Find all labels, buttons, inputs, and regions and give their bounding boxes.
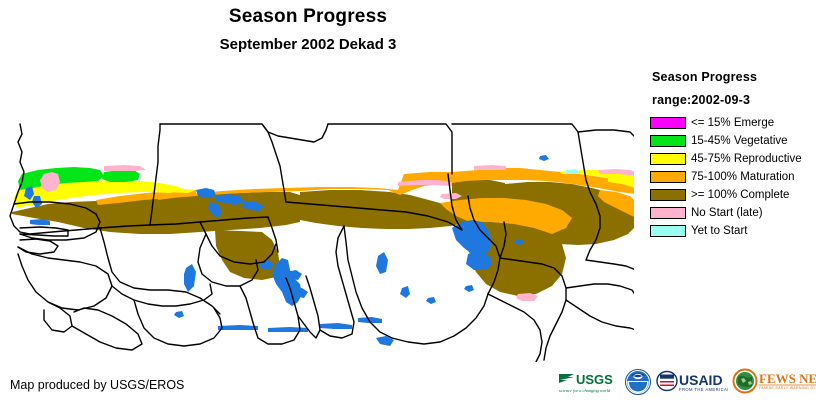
usaid-logo-tagline: FROM THE AMERICAN PEOPLE — [679, 387, 728, 392]
legend-swatch-yet-to-start — [650, 225, 686, 237]
legend-label-maturation: 75-100% Maturation — [691, 171, 795, 183]
legend-swatch-maturation — [650, 171, 686, 183]
page-title: Season Progress — [0, 6, 616, 28]
legend-title: Season Progress — [652, 70, 816, 84]
legend-label-no-start: No Start (late) — [691, 207, 763, 219]
fews-net-logo: FEWS NET FAMINE EARLY WARNING SYSTEMS NE… — [732, 365, 816, 399]
usaid-logo: USAID FROM THE AMERICAN PEOPLE — [656, 365, 728, 399]
logo-strip: USGS science for a changing world — [558, 363, 816, 401]
legend-item-reproductive[interactable]: 45-75% Reproductive — [650, 150, 816, 167]
legend-item-complete[interactable]: >= 100% Complete — [650, 186, 816, 203]
legend-item-maturation[interactable]: 75-100% Maturation — [650, 168, 816, 185]
usgs-logo-text: USGS — [576, 372, 613, 387]
legend-label-complete: >= 100% Complete — [691, 189, 789, 201]
fews-net-logo-tagline: FAMINE EARLY WARNING SYSTEMS NETWORK — [759, 386, 816, 390]
map-credit: Map produced by USGS/EROS — [10, 378, 184, 392]
legend-label-yet-to-start: Yet to Start — [691, 225, 747, 237]
fews-net-logo-icon: FEWS NET FAMINE EARLY WARNING SYSTEMS NE… — [732, 368, 816, 396]
legend-label-emerge: <= 15% Emerge — [691, 117, 774, 129]
legend-item-yet-to-start[interactable]: Yet to Start — [650, 222, 816, 239]
noaa-logo — [624, 365, 652, 399]
noaa-logo-icon — [624, 368, 652, 396]
legend-item-emerge[interactable]: <= 15% Emerge — [650, 114, 816, 131]
west-africa-map[interactable] — [0, 62, 648, 362]
legend-label-vegetative: 15-45% Vegetative — [691, 135, 788, 147]
legend-label-reproductive: 45-75% Reproductive — [691, 153, 802, 165]
band-nostart-east1 — [474, 165, 506, 170]
legend-range: range:2002-09-3 — [652, 93, 816, 107]
legend-item-vegetative[interactable]: 15-45% Vegetative — [650, 132, 816, 149]
coast-lagoon1 — [218, 325, 258, 330]
usaid-logo-icon: USAID FROM THE AMERICAN PEOPLE — [656, 369, 728, 395]
legend-swatch-vegetative — [650, 135, 686, 147]
usgs-logo: USGS science for a changing world — [558, 365, 620, 399]
map-page: Season Progress September 2002 Dekad 3 — [0, 0, 816, 403]
legend-item-no-start[interactable]: No Start (late) — [650, 204, 816, 221]
page-subtitle: September 2002 Dekad 3 — [0, 36, 616, 53]
legend-swatch-no-start — [650, 207, 686, 219]
legend-swatch-reproductive — [650, 153, 686, 165]
map-canvas[interactable] — [0, 62, 648, 362]
legend-swatch-emerge — [650, 117, 686, 129]
coast-lagoon2 — [268, 327, 308, 332]
legend-panel: Season Progress range:2002-09-3 <= 15% E… — [650, 70, 816, 240]
fews-net-logo-text: FEWS NET — [759, 371, 816, 386]
usgs-logo-tagline: science for a changing world — [559, 388, 611, 393]
usgs-logo-icon: USGS science for a changing world — [558, 369, 620, 395]
usaid-logo-text: USAID — [679, 372, 723, 388]
legend-swatch-complete — [650, 189, 686, 201]
band-vegetative-patch — [102, 170, 140, 182]
